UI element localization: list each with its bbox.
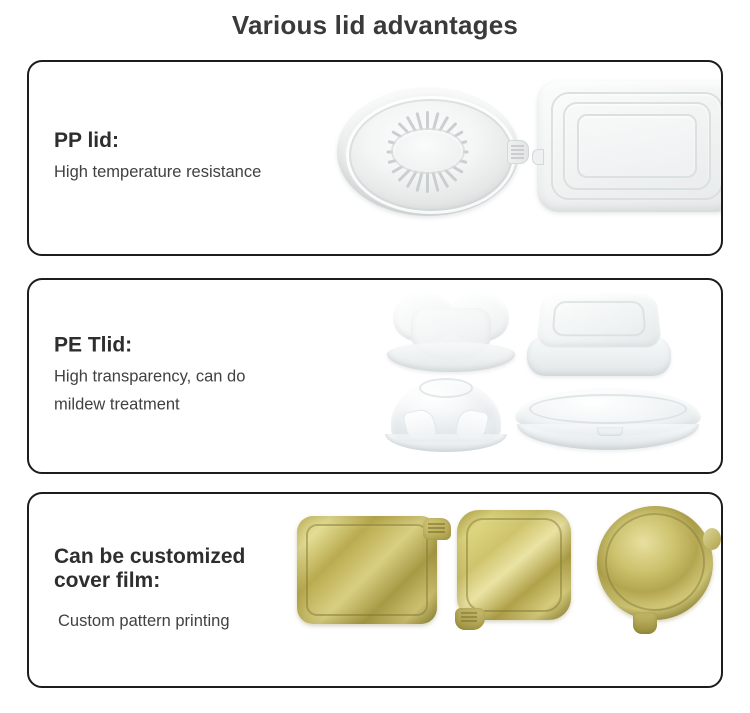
panel-pp-lid: PP lid: High temperature resistance bbox=[27, 60, 723, 256]
foil-plate bbox=[597, 506, 713, 620]
foil-pull-tab bbox=[633, 612, 657, 634]
foil-inner-ridge bbox=[466, 518, 562, 612]
gold-foil-rectangular-lid-icon bbox=[297, 516, 437, 624]
foil-inner-ridge bbox=[306, 524, 428, 616]
lid-ridge-inner bbox=[577, 114, 697, 177]
panel-pp-heading: PP lid: bbox=[54, 129, 344, 153]
gold-foil-square-lid-icon bbox=[457, 510, 571, 626]
panel-pe-text-block: PE Tlid: High transparency, can do milde… bbox=[54, 334, 344, 419]
rectangular-pp-lid-icon bbox=[537, 80, 723, 212]
lid-inner-ridge bbox=[551, 301, 646, 336]
round-dome-cup-lid-icon bbox=[385, 380, 507, 452]
foil-pull-tab bbox=[423, 518, 451, 540]
panel-pe-subtext: High transparency, can do mildew treatme… bbox=[54, 364, 344, 418]
square-dome-lid-icon bbox=[527, 290, 671, 376]
foil-edge-bump bbox=[703, 528, 721, 550]
panel-custom-cover-film: Can be customized cover film: Custom pat… bbox=[27, 492, 723, 688]
foil-plate bbox=[297, 516, 437, 624]
lid-notch bbox=[597, 427, 623, 436]
panel-pp-subtext: High temperature resistance bbox=[54, 160, 344, 187]
lid-base-rim bbox=[387, 342, 515, 372]
page-title: Various lid advantages bbox=[0, 10, 750, 41]
lid-pull-tab bbox=[507, 140, 529, 164]
heart-shaped-dome-lid-icon bbox=[387, 292, 515, 372]
round-ribbed-pp-lid-icon bbox=[337, 88, 519, 216]
foil-pull-tab bbox=[455, 608, 485, 630]
panel-gold-figures bbox=[329, 494, 721, 686]
dome-foot-rim bbox=[385, 434, 507, 452]
lid-top-face bbox=[536, 293, 663, 347]
lid-inner-ridge bbox=[529, 394, 687, 424]
oval-shallow-lid-icon bbox=[515, 388, 701, 450]
lid-center-oval bbox=[393, 130, 462, 172]
foil-inner-ridge bbox=[605, 513, 705, 611]
gold-foil-round-lid-icon bbox=[597, 506, 719, 628]
panel-pe-tlid: PE Tlid: High transparency, can do milde… bbox=[27, 278, 723, 474]
dome-top-ring bbox=[419, 378, 473, 398]
panel-pp-text-block: PP lid: High temperature resistance bbox=[54, 129, 344, 187]
lid-notch bbox=[532, 149, 544, 165]
foil-plate bbox=[457, 510, 571, 620]
panel-pe-figures bbox=[329, 280, 721, 472]
panel-pp-figures bbox=[329, 62, 721, 254]
panel-pe-heading: PE Tlid: bbox=[54, 334, 344, 358]
